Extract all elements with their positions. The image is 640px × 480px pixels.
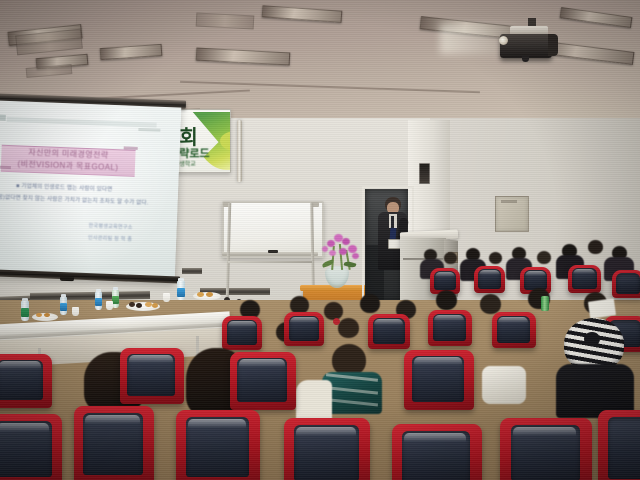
auditorium-seat[interactable] — [428, 310, 472, 346]
bottle-label — [112, 296, 119, 304]
slide-header-bar — [7, 117, 157, 128]
paper-cup — [106, 301, 113, 310]
seat-highlight — [498, 317, 528, 323]
bottle-label — [21, 308, 29, 317]
auditorium-seat[interactable] — [568, 265, 601, 293]
auditorium-seat[interactable] — [120, 348, 184, 404]
whiteboard-cross-brace — [228, 261, 312, 263]
seat-highlight — [228, 321, 256, 327]
seat-highlight — [479, 270, 500, 275]
snack-item — [36, 313, 42, 317]
seat-highlight — [513, 427, 576, 436]
orchid-bloom — [342, 238, 350, 245]
seat-highlight — [525, 271, 546, 276]
bottle-label — [95, 298, 102, 306]
projection-screen: 자신만의 미래경영전략 (비전VISION과 목표GOAL) ■ 기업체의 인생… — [0, 101, 181, 283]
wall-mounted-device — [419, 163, 430, 184]
orchid-bloom — [322, 246, 328, 252]
auditorium-seat[interactable] — [230, 352, 296, 410]
attendee-head — [480, 294, 501, 314]
attendee-head — [436, 290, 457, 310]
snack-item — [129, 302, 135, 307]
projector-cable-housing — [548, 34, 558, 56]
seat-highlight — [296, 427, 356, 436]
orchid-bloom — [348, 245, 357, 253]
seat-highlight — [414, 357, 462, 365]
orchid-bloom — [339, 248, 347, 255]
slide-footer-line-1: 한국평생교육연구소 — [23, 220, 133, 231]
orchid-bloom — [352, 253, 359, 259]
seat-highlight — [188, 419, 246, 428]
auditorium-seat[interactable] — [0, 354, 52, 408]
snack-item — [136, 303, 142, 308]
screen-pull-handle — [60, 277, 74, 281]
auditorium-seat[interactable] — [74, 406, 154, 480]
attendee-head — [324, 302, 343, 320]
ceiling-projector — [500, 34, 552, 58]
snack-item — [145, 302, 152, 307]
seat-highlight — [435, 272, 455, 277]
hair-tie — [333, 318, 340, 325]
seat-highlight — [85, 415, 140, 424]
seat-highlight — [129, 355, 173, 363]
snack-item — [44, 313, 50, 317]
bottle-label — [177, 288, 185, 297]
lecture-hall-photo: 수회 구전략로드 글 한평생학교 자신만의 미래경영전략 (비전VISION과 … — [0, 0, 640, 480]
slide-title-tick — [124, 146, 138, 150]
snack-item — [206, 292, 213, 297]
auditorium-seat[interactable] — [368, 314, 410, 349]
auditorium-seat[interactable] — [0, 414, 62, 480]
attendee-head — [588, 240, 603, 254]
slide-body-line-2: (꿈)없다면 찾지 않는 사람은 가치가 없는지 조차도 알 수가 없다. — [0, 193, 161, 207]
auditorium-seat[interactable] — [492, 312, 536, 348]
orchid-bloom — [327, 240, 335, 247]
seat-highlight — [404, 433, 466, 442]
orchid-bloom — [329, 250, 336, 256]
white-bag — [482, 366, 526, 404]
auditorium-seat[interactable] — [612, 270, 640, 298]
auditorium-seat[interactable] — [176, 410, 260, 480]
slide-body-line-1: ■ 기업체의 인생로드 맵는 사람이 있다면 — [16, 181, 156, 194]
seat-cushion — [608, 417, 640, 479]
attendee-head — [537, 251, 551, 264]
seat-highlight — [0, 361, 41, 369]
auditorium-seat[interactable] — [474, 266, 505, 293]
auditorium-seat[interactable] — [284, 418, 370, 480]
ceiling-vent-grille — [196, 12, 255, 29]
auditorium-seat[interactable] — [404, 350, 474, 410]
snack-item — [197, 292, 204, 297]
seat-highlight — [239, 359, 285, 367]
auditorium-seat[interactable] — [500, 418, 592, 480]
seat-highlight — [290, 317, 318, 323]
auditorium-seat[interactable] — [284, 312, 324, 346]
projector-lens — [499, 36, 508, 45]
seat-highlight — [374, 319, 403, 325]
paper-cup — [163, 293, 170, 302]
beverage-can — [541, 296, 549, 311]
auditorium-seat[interactable] — [392, 424, 482, 480]
attendee-head — [360, 294, 380, 313]
auditorium-seat[interactable] — [222, 316, 262, 350]
slide-footer-line-2: 인사관리팀 정 혁 종 — [22, 232, 132, 243]
seat-cushion — [616, 273, 640, 294]
bottle-label — [60, 303, 67, 311]
banner-support-pole — [237, 120, 242, 182]
projector-foot — [522, 56, 529, 62]
beanie-pom — [584, 332, 600, 346]
auditorium-seat[interactable] — [598, 410, 640, 480]
wall-panel-label — [501, 200, 517, 203]
snack-item — [152, 303, 158, 308]
whiteboard-marker — [268, 250, 278, 253]
paper-cup — [72, 307, 79, 316]
slide-header-dash — [0, 115, 6, 121]
seat-highlight — [573, 269, 595, 274]
attendee-head — [338, 318, 359, 338]
wall-dark-band — [182, 268, 202, 274]
seat-highlight — [434, 315, 464, 321]
attendee-head — [489, 252, 502, 264]
slide-header-accent — [138, 128, 160, 132]
attendee-head — [444, 252, 457, 264]
seat-highlight — [0, 423, 49, 432]
